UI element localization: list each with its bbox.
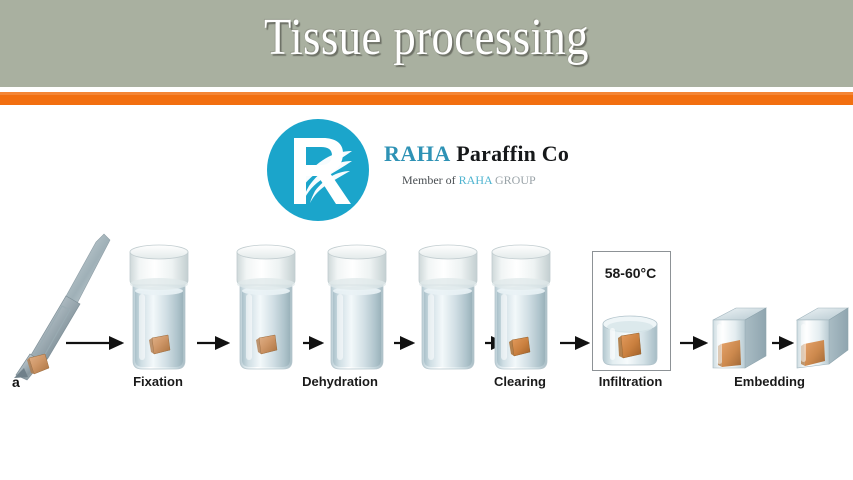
stage-label-fixation: Fixation bbox=[108, 374, 208, 389]
logo-tagline-prefix: Member of bbox=[402, 173, 456, 187]
jar-clearing bbox=[492, 245, 550, 369]
jar-dehydration-2 bbox=[328, 245, 386, 369]
scalpel-illustration bbox=[14, 234, 110, 380]
logo-brand-secondary: Paraffin Co bbox=[456, 141, 569, 166]
stage-label-clearing: Clearing bbox=[470, 374, 570, 389]
infiltration-temperature-label: 58-60°C bbox=[592, 265, 669, 281]
logo-block: RAHA Paraffin Co Member of RAHA GROUP bbox=[266, 118, 596, 223]
stage-label-infiltration: Infiltration bbox=[583, 374, 678, 389]
panel-letter-label: a bbox=[12, 374, 20, 390]
paraffin-block-2 bbox=[797, 308, 848, 368]
raha-r-logo-icon bbox=[266, 118, 370, 222]
logo-tagline-suffix: GROUP bbox=[495, 173, 536, 187]
jar-dehydration-1 bbox=[237, 245, 295, 369]
logo-tagline-brand: RAHA bbox=[459, 173, 492, 187]
logo-brand-primary: RAHA bbox=[384, 141, 451, 166]
stage-label-dehydration: Dehydration bbox=[280, 374, 400, 389]
slide-root: Tissue processing RAHA Paraffin Co Membe… bbox=[0, 0, 853, 480]
jar-fixation bbox=[130, 245, 188, 369]
paraffin-block-1 bbox=[713, 308, 766, 368]
jar-dehydration-3 bbox=[419, 245, 477, 369]
header-accent-rule bbox=[0, 92, 853, 105]
page-title: Tissue processing bbox=[60, 8, 794, 67]
logo-text-block: RAHA Paraffin Co Member of RAHA GROUP bbox=[384, 142, 569, 188]
stage-label-embedding: Embedding bbox=[712, 374, 827, 389]
